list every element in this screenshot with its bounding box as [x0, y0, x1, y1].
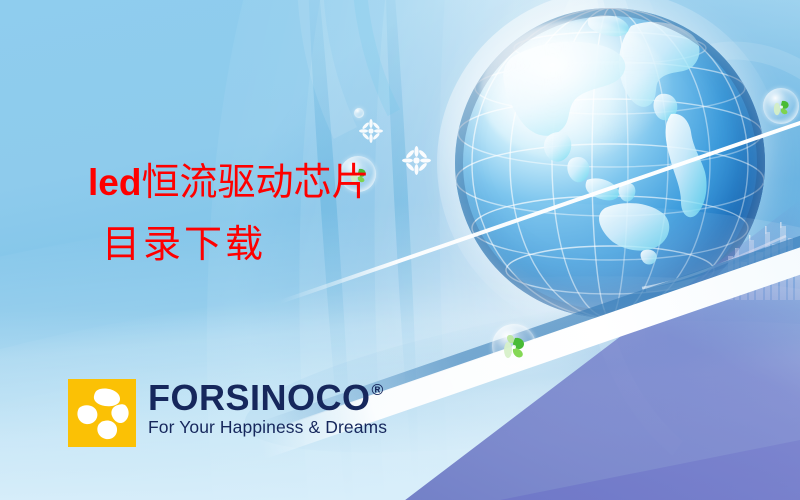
headline-line-1-latin: led	[88, 162, 141, 203]
promo-banner: led恒流驱动芯片 目录下载 FORSINOCO ® For Your Happ…	[0, 0, 800, 500]
headline-block: led恒流驱动芯片 目录下载	[88, 164, 369, 264]
registered-trademark-icon: ®	[372, 383, 384, 399]
bubble-small-icon	[354, 108, 364, 118]
brand-wordmark: FORSINOCO ®	[148, 381, 387, 415]
sparkle-star-icon	[359, 119, 383, 143]
headline-line-2: 目录下载	[102, 226, 369, 264]
brand-tagline: For Your Happiness & Dreams	[148, 417, 387, 438]
headline-line-1: led恒流驱动芯片	[88, 164, 369, 202]
brand-logo[interactable]: FORSINOCO ® For Your Happiness & Dreams	[68, 379, 387, 447]
brand-wordmark-label: FORSINOCO	[148, 381, 371, 415]
sparkle-star-icon	[402, 146, 431, 175]
four-petal-pinwheel-icon	[68, 379, 136, 447]
bubble-pinwheel-icon	[492, 324, 536, 368]
bubble-pinwheel-icon	[763, 88, 799, 124]
headline-line-1-cjk: 恒流驱动芯片	[141, 162, 369, 204]
brand-logo-text: FORSINOCO ® For Your Happiness & Dreams	[148, 379, 387, 438]
